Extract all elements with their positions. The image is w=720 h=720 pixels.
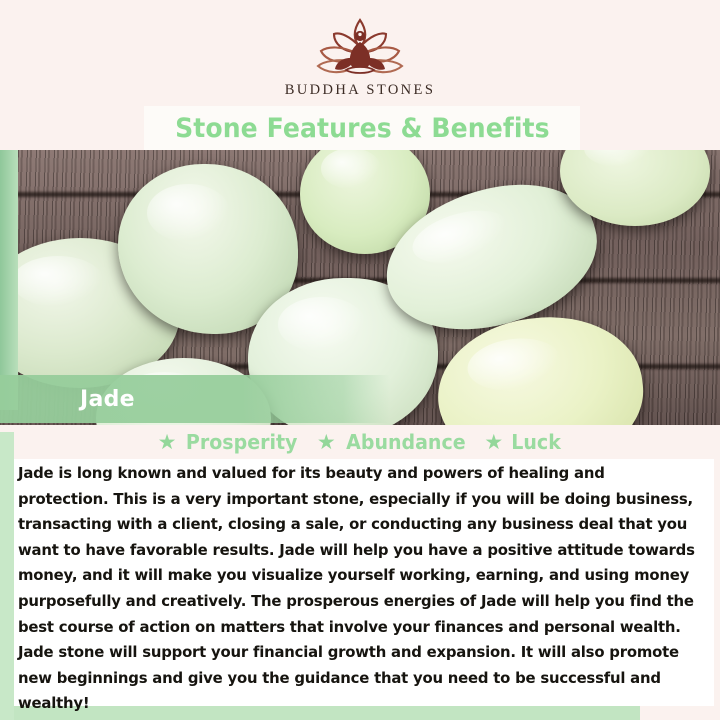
description-block: Jade is long known and valued for its be… [14, 459, 714, 706]
benefit-item-abundance: ★ Abundance [317, 430, 469, 454]
frame-accent-left [0, 150, 18, 410]
star-icon: ★ [484, 432, 503, 453]
benefit-label: Luck [512, 430, 562, 454]
stone-name: Jade [80, 387, 135, 412]
frame-accent-text-left [0, 432, 14, 720]
brand-name: BUDDHA STONES [285, 82, 436, 99]
benefit-item-luck: ★ Luck [484, 430, 562, 454]
title-banner: Stone Features & Benefits [144, 106, 580, 150]
description-text: Jade is long known and valued for its be… [18, 461, 696, 717]
star-icon: ★ [317, 432, 336, 453]
benefit-label: Abundance [346, 430, 465, 454]
stone-caption-band: Jade [0, 375, 390, 423]
benefit-label: Prosperity [186, 430, 298, 454]
brand-logo: BUDDHA STONES [0, 14, 720, 99]
infographic-page: BUDDHA STONES Stone Features & Benefits … [0, 0, 720, 720]
lotus-meditation-icon [296, 14, 424, 80]
page-title: Stone Features & Benefits [175, 113, 550, 144]
star-icon: ★ [158, 432, 177, 453]
benefits-row: ★ Prosperity ★ Abundance ★ Luck [0, 425, 720, 459]
benefit-item-prosperity: ★ Prosperity [158, 430, 301, 454]
